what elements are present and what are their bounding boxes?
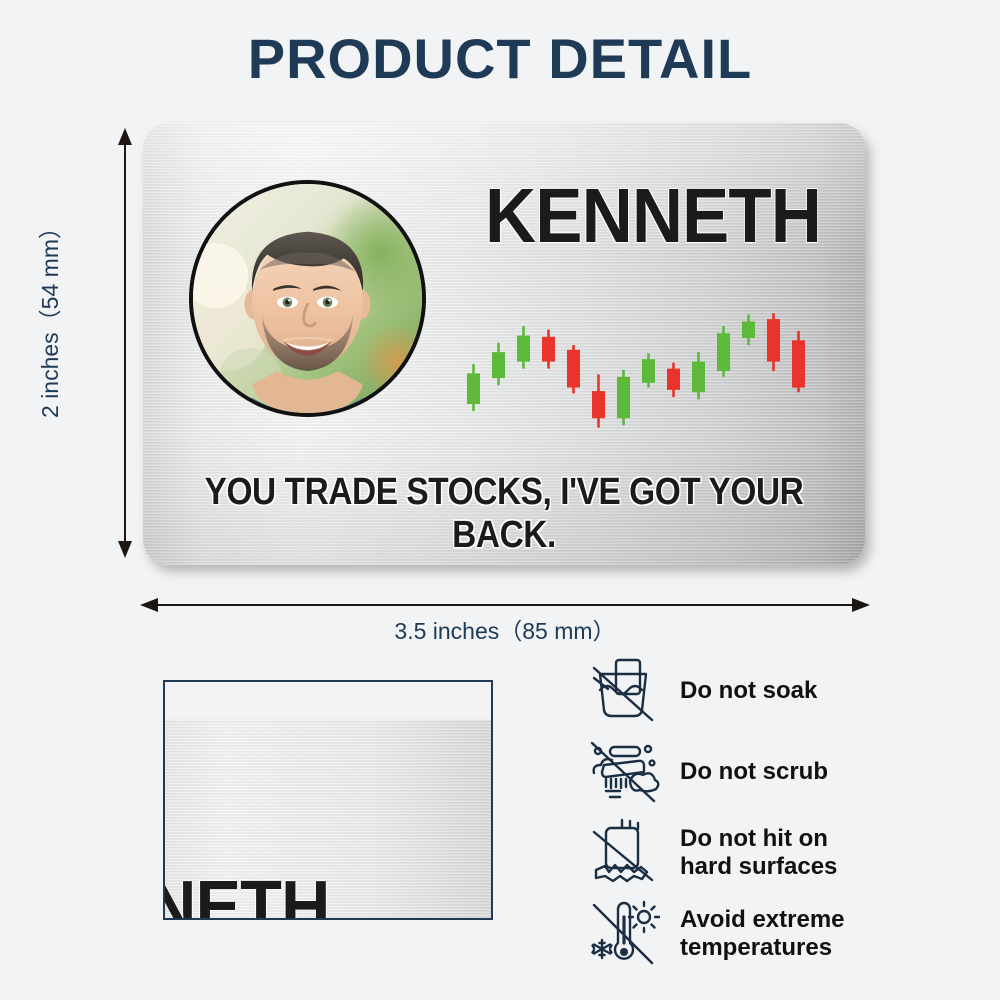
care-item-label: Do not scrub <box>666 758 828 786</box>
candle-body-down <box>667 369 680 390</box>
arrow-shaft <box>124 136 126 550</box>
candle-body-up <box>717 333 730 371</box>
candle-body-up <box>492 352 505 378</box>
card-tagline-text: YOU TRADE STOCKS, I'VE GOT YOUR BACK. <box>186 471 821 557</box>
zoom-detail-text: NETH <box>163 866 329 920</box>
care-item-do-not-soak: Do not soak <box>580 650 970 731</box>
width-dimension-arrow <box>140 598 870 612</box>
candlestick-chart <box>461 306 811 436</box>
arrow-head-down <box>118 541 132 558</box>
arrow-shaft <box>150 604 860 606</box>
candle-body-up <box>692 362 705 393</box>
no-impact-icon <box>580 814 666 892</box>
care-item-do-not-scrub: Do not scrub <box>580 731 970 812</box>
candle-body-up <box>642 359 655 383</box>
portrait-photo-icon <box>193 184 422 413</box>
height-dimension-label: 2 inches（54 mm） <box>31 177 65 457</box>
no-scrub-icon <box>580 733 666 811</box>
height-dimension-arrow <box>118 128 132 558</box>
care-item-avoid-extreme-temperatures: Avoid extreme temperatures <box>580 893 970 974</box>
width-dimension-label: 3.5 inches（85 mm） <box>140 612 870 646</box>
card-name-text: KENNETH <box>469 179 837 254</box>
candle-body-down <box>592 391 605 418</box>
candlestick-chart-svg <box>461 306 811 436</box>
candle-body-down <box>767 319 780 361</box>
care-item-label: Do not hit on hard surfaces <box>666 825 837 880</box>
no-extreme-temp-icon <box>580 895 666 973</box>
candle-body-down <box>567 350 580 388</box>
candle-body-up <box>617 377 630 418</box>
candle-body-up <box>742 321 755 338</box>
candle-body-down <box>542 337 555 362</box>
page-title: PRODUCT DETAIL <box>0 26 1000 91</box>
care-item-label: Do not soak <box>666 677 817 705</box>
no-soak-icon <box>580 652 666 730</box>
care-instructions-list: Do not soak Do not scrub <box>580 650 970 974</box>
candle-body-up <box>467 373 480 404</box>
zoom-detail-inset: NETH <box>163 680 493 920</box>
care-item-label: Avoid extreme temperatures <box>666 906 845 961</box>
care-item-do-not-hit: Do not hit on hard surfaces <box>580 812 970 893</box>
candle-body-up <box>517 336 530 362</box>
product-card: KENNETH YOU TRADE STOCKS, I'VE GOT YOUR … <box>143 123 865 565</box>
candle-body-down <box>792 340 805 387</box>
avatar <box>189 180 426 417</box>
arrow-head-right <box>852 598 870 612</box>
